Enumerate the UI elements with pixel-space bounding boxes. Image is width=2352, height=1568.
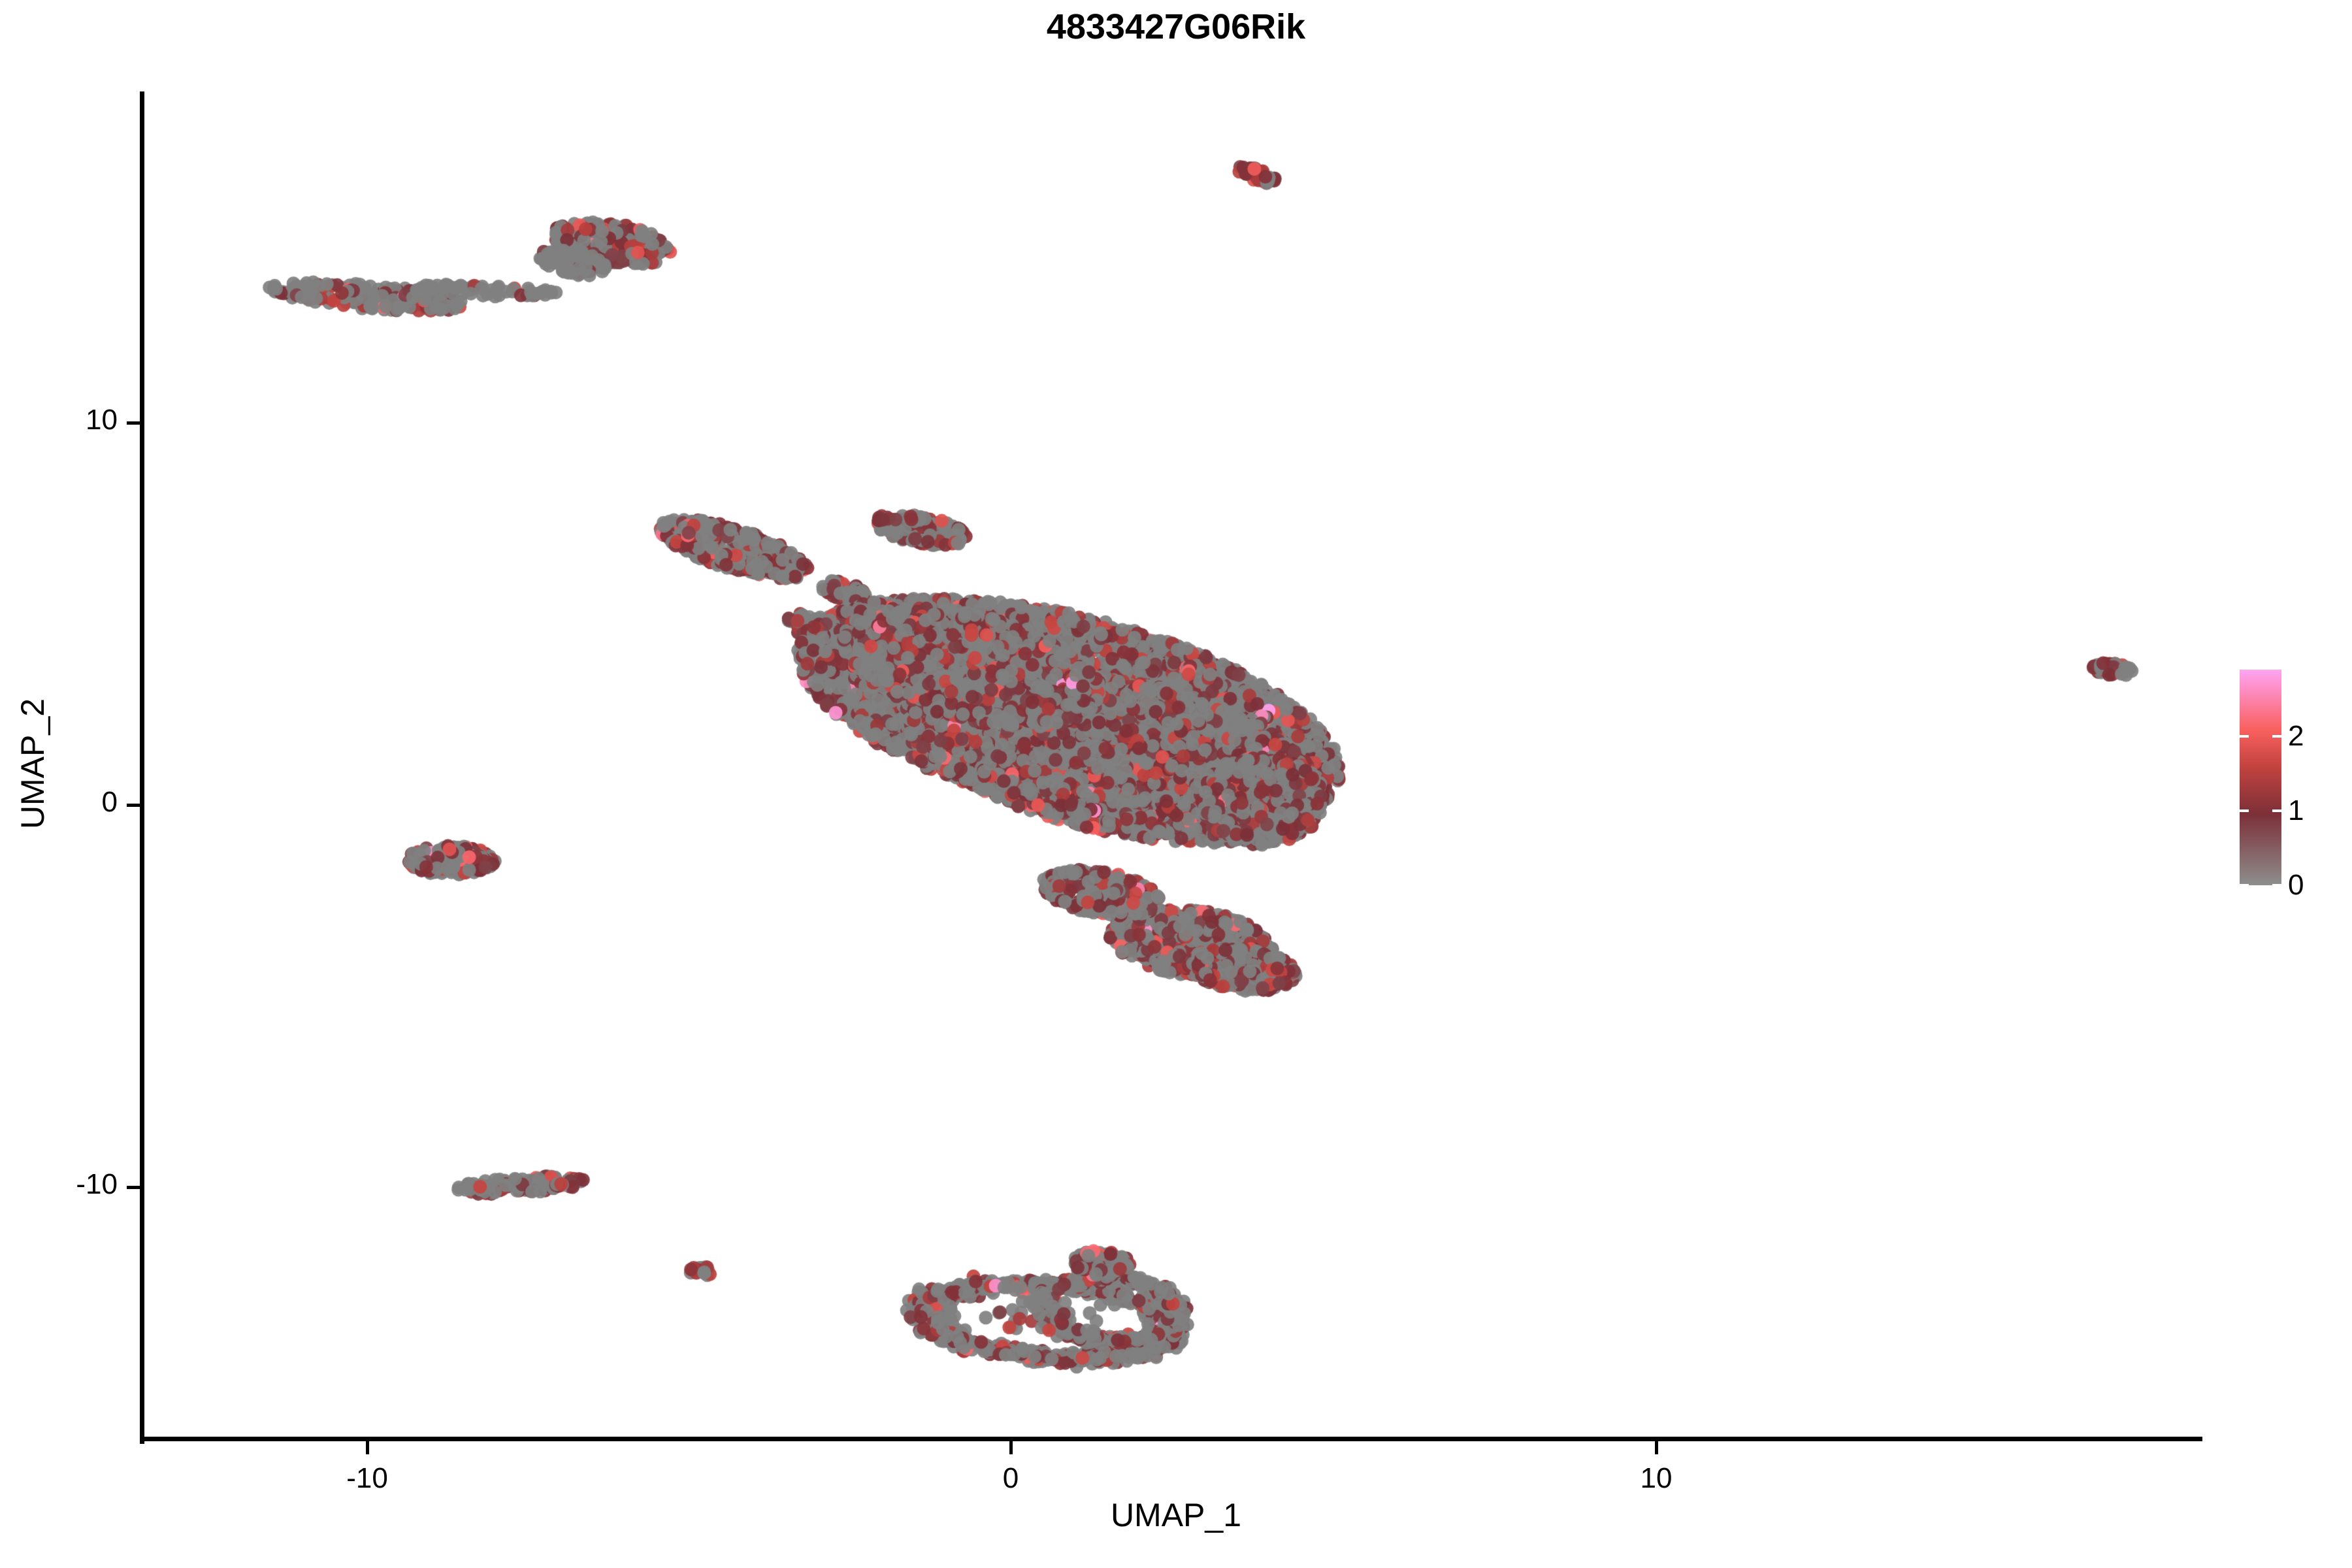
x-tick-0: [1009, 1441, 1013, 1454]
x-axis-line: [140, 1437, 2202, 1441]
colorbar-tick-1-left: [2240, 809, 2249, 812]
x-axis-title: UMAP_1: [0, 1496, 2352, 1534]
x-ticklabel-minus10: -10: [315, 1462, 419, 1495]
y-tick-10: [127, 421, 140, 425]
colorbar-tick-2-left: [2240, 735, 2249, 738]
colorbar-tick-1-right: [2272, 809, 2281, 812]
y-axis-title: UMAP_2: [14, 620, 52, 907]
y-tick-0: [127, 804, 140, 807]
y-ticklabel-10: 10: [39, 404, 118, 436]
plot-panel[interactable]: [144, 91, 2202, 1439]
y-ticklabel-minus10: -10: [39, 1168, 118, 1201]
colorbar-label-1: 1: [2288, 794, 2304, 827]
colorbar-tick-0-left: [2240, 884, 2249, 887]
y-axis-line: [140, 91, 144, 1444]
page-title: 4833427G06Rik: [0, 7, 2352, 47]
x-tick-minus10: [366, 1441, 369, 1454]
x-ticklabel-10: 10: [1604, 1462, 1708, 1495]
colorbar-gradient: [2240, 670, 2281, 885]
colorbar-label-0: 0: [2288, 869, 2304, 902]
figure-root: 4833427G06Rik 10 0 -10 -10 0 10 UMAP_1 U…: [0, 0, 2352, 1568]
scatter-points-canvas: [144, 91, 2202, 1439]
x-ticklabel-0: 0: [958, 1462, 1063, 1495]
x-tick-10: [1655, 1441, 1658, 1454]
y-tick-minus10: [127, 1186, 140, 1189]
colorbar-label-2: 2: [2288, 720, 2304, 753]
colorbar-tick-2-right: [2272, 735, 2281, 738]
colorbar-tick-0-right: [2272, 884, 2281, 887]
colorbar-legend[interactable]: 2 1 0: [2240, 670, 2281, 885]
